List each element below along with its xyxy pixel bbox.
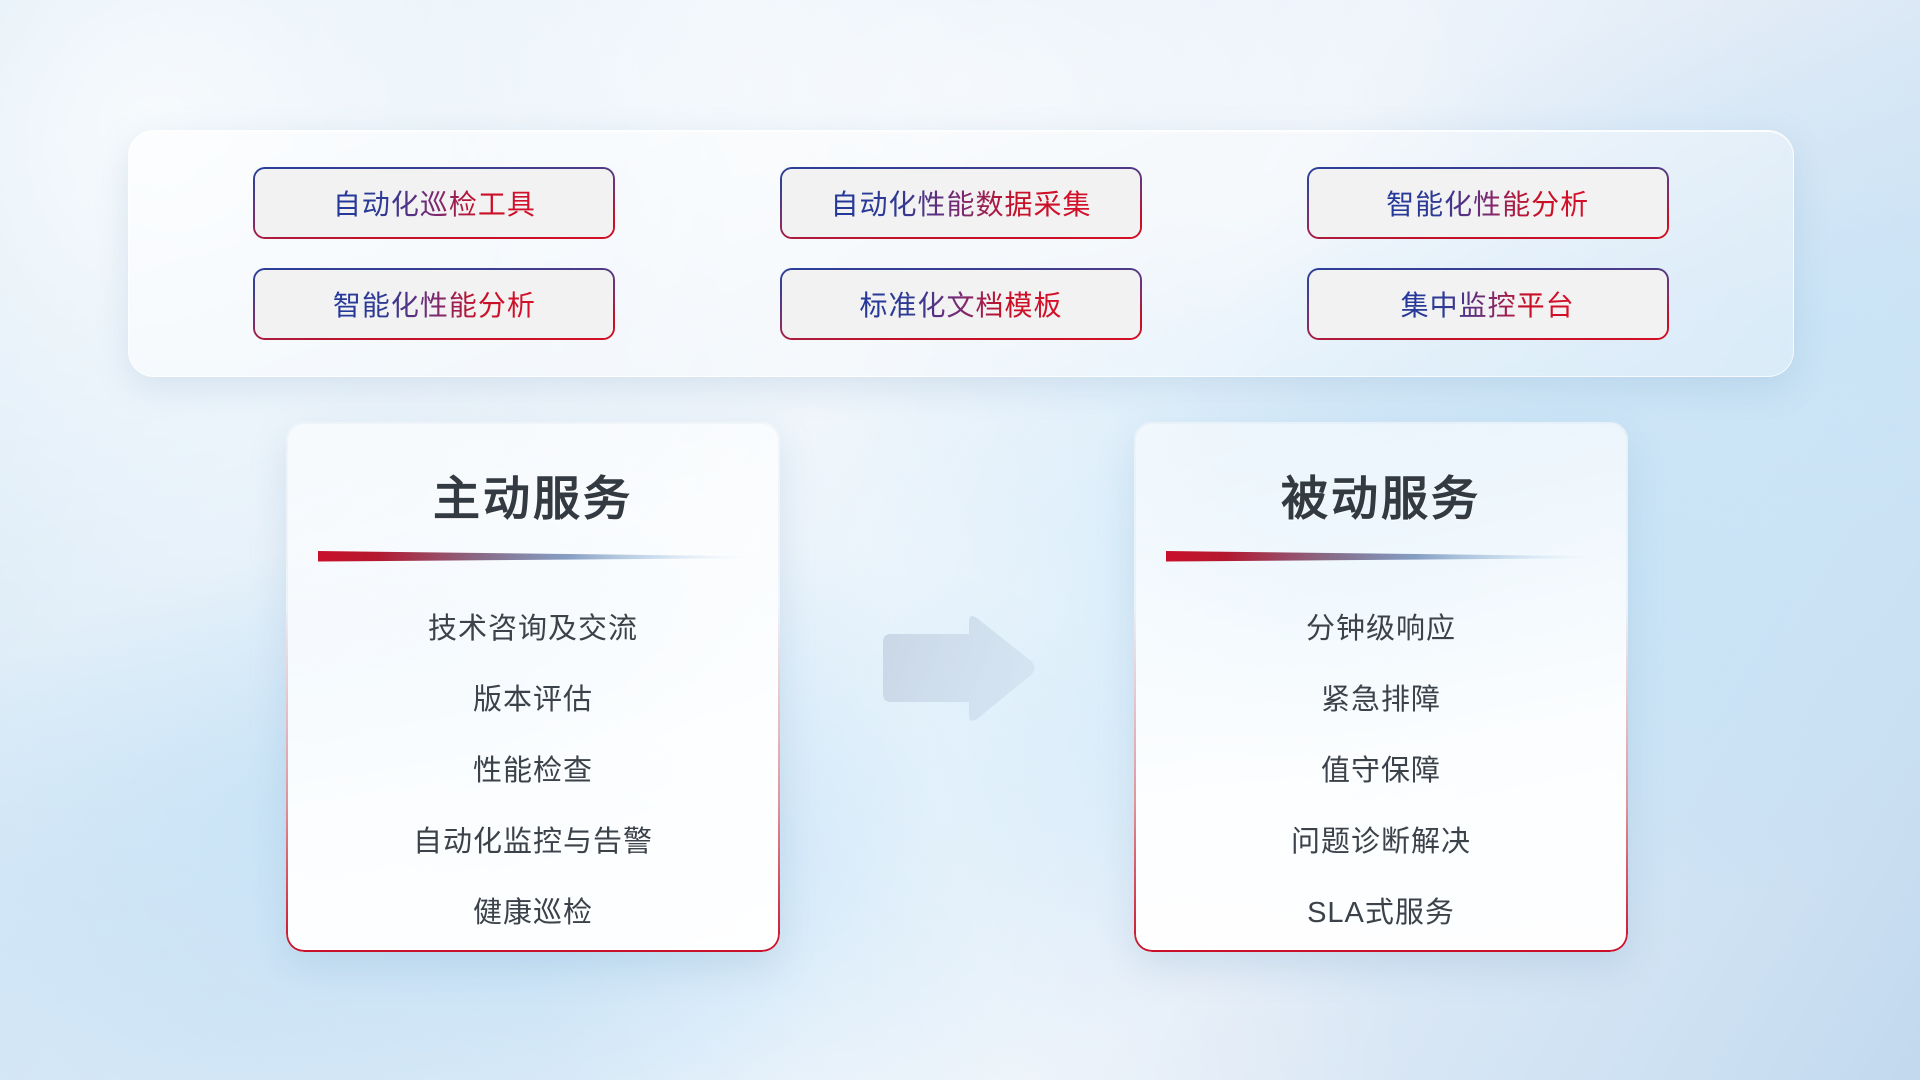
service-list-item: 紧急排障 bbox=[1134, 665, 1628, 736]
capability-tag-surface: 智能化性能分析 bbox=[255, 270, 613, 338]
service-list-item: 技术咨询及交流 bbox=[286, 594, 780, 665]
arrow-right-icon bbox=[873, 612, 1038, 727]
card-title: 被动服务 bbox=[1134, 422, 1628, 529]
service-card-reactive: 被动服务 分钟级响应 紧急排障 值守保障 问题诊断解决 SLA式服务 bbox=[1134, 422, 1628, 952]
capability-tag-surface: 标准化文档模板 bbox=[782, 270, 1140, 338]
capability-tag-label: 标准化文档模板 bbox=[859, 284, 1062, 324]
service-list-item: 版本评估 bbox=[286, 665, 780, 736]
capability-tag-label: 智能化性能分析 bbox=[1386, 183, 1589, 223]
capability-tag-panel: 自动化巡检工具 自动化性能数据采集 智能化性能分析 智能化性能分析 标准化文档模… bbox=[128, 130, 1794, 377]
service-list-item: 性能检查 bbox=[286, 736, 780, 807]
capability-tag-surface: 集中监控平台 bbox=[1309, 270, 1667, 338]
service-list-item: SLA式服务 bbox=[1134, 878, 1628, 949]
capability-tag-surface: 自动化巡检工具 bbox=[255, 169, 613, 237]
capability-tag[interactable]: 智能化性能分析 bbox=[1309, 169, 1667, 237]
service-card-proactive: 主动服务 技术咨询及交流 版本评估 性能检查 自动化监控与告警 健康巡检 bbox=[286, 422, 780, 952]
card-divider bbox=[1166, 551, 1596, 562]
service-list-item: 值守保障 bbox=[1134, 736, 1628, 807]
capability-tag-label: 自动化性能数据采集 bbox=[830, 183, 1091, 223]
card-divider bbox=[318, 551, 748, 562]
capability-tag[interactable]: 智能化性能分析 bbox=[255, 270, 613, 338]
service-item-list: 技术咨询及交流 版本评估 性能检查 自动化监控与告警 健康巡检 bbox=[286, 562, 780, 949]
capability-tag-label: 智能化性能分析 bbox=[333, 284, 536, 324]
capability-tag-label: 集中监控平台 bbox=[1401, 284, 1575, 324]
service-list-item: 问题诊断解决 bbox=[1134, 807, 1628, 878]
service-item-list: 分钟级响应 紧急排障 值守保障 问题诊断解决 SLA式服务 bbox=[1134, 562, 1628, 949]
capability-tag-surface: 智能化性能分析 bbox=[1309, 169, 1667, 237]
capability-tag-label: 自动化巡检工具 bbox=[333, 183, 536, 223]
card-title: 主动服务 bbox=[286, 422, 780, 529]
service-list-item: 健康巡检 bbox=[286, 878, 780, 949]
capability-tag[interactable]: 标准化文档模板 bbox=[782, 270, 1140, 338]
service-list-item: 分钟级响应 bbox=[1134, 594, 1628, 665]
capability-tag[interactable]: 自动化巡检工具 bbox=[255, 169, 613, 237]
capability-tag-surface: 自动化性能数据采集 bbox=[782, 169, 1140, 237]
capability-tag-grid: 自动化巡检工具 自动化性能数据采集 智能化性能分析 智能化性能分析 标准化文档模… bbox=[129, 131, 1793, 376]
capability-tag[interactable]: 自动化性能数据采集 bbox=[782, 169, 1140, 237]
capability-tag[interactable]: 集中监控平台 bbox=[1309, 270, 1667, 338]
service-list-item: 自动化监控与告警 bbox=[286, 807, 780, 878]
